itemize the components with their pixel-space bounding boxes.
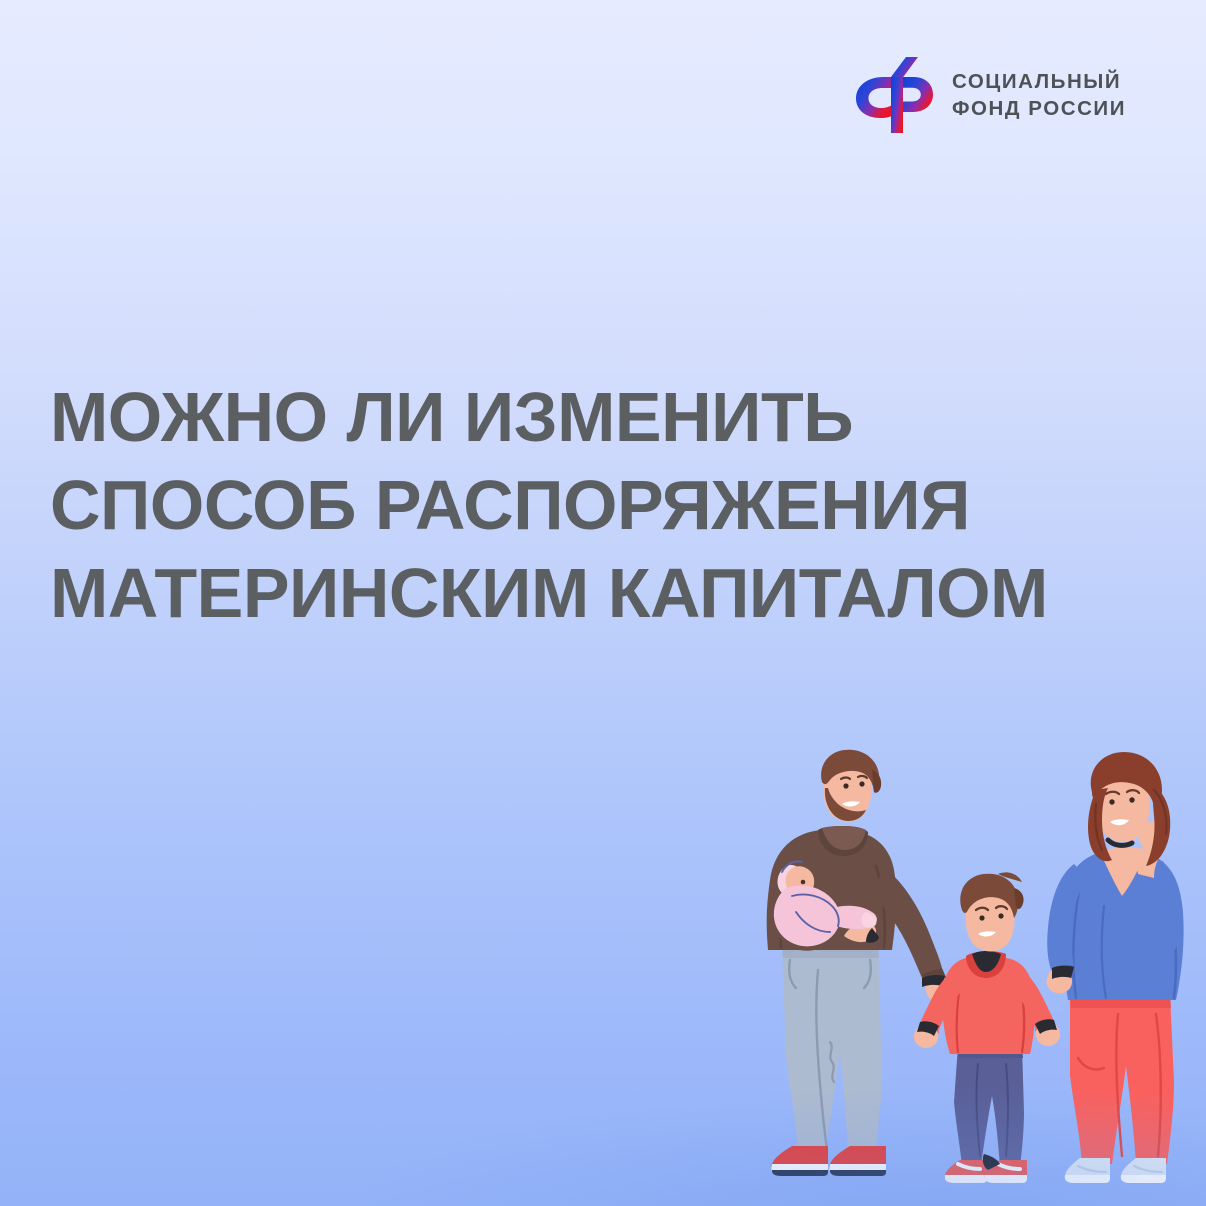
- child-head: [960, 872, 1023, 951]
- father-head: [821, 750, 881, 822]
- sfr-logo-text: СОЦИАЛЬНЫЙ ФОНД РОССИИ: [952, 70, 1126, 121]
- father-shoes: [771, 1146, 886, 1176]
- title-line-1: МОЖНО ЛИ ИЗМЕНИТЬ: [50, 373, 1190, 461]
- sfr-monogram-icon: [851, 55, 935, 135]
- title-line-3: МАТЕРИНСКИМ КАПИТАЛОМ: [50, 549, 1190, 637]
- title-line-2: СПОСОБ РАСПОРЯЖЕНИЯ: [50, 461, 1190, 549]
- logo-text-line-2: ФОНД РОССИИ: [952, 97, 1126, 121]
- figure-child: [914, 872, 1060, 1183]
- figure-mother: [1046, 752, 1183, 1183]
- poster-canvas: СОЦИАЛЬНЫЙ ФОНД РОССИИ МОЖНО ЛИ ИЗМЕНИТЬ…: [0, 0, 1206, 1206]
- sfr-logo: СОЦИАЛЬНЫЙ ФОНД РОССИИ: [851, 55, 1126, 135]
- figure-father: [767, 750, 953, 1176]
- page-title: МОЖНО ЛИ ИЗМЕНИТЬ СПОСОБ РАСПОРЯЖЕНИЯ МА…: [50, 373, 1190, 637]
- family-illustration: [726, 746, 1206, 1206]
- logo-text-line-1: СОЦИАЛЬНЫЙ: [952, 70, 1126, 94]
- mother-shoes: [1065, 1158, 1166, 1183]
